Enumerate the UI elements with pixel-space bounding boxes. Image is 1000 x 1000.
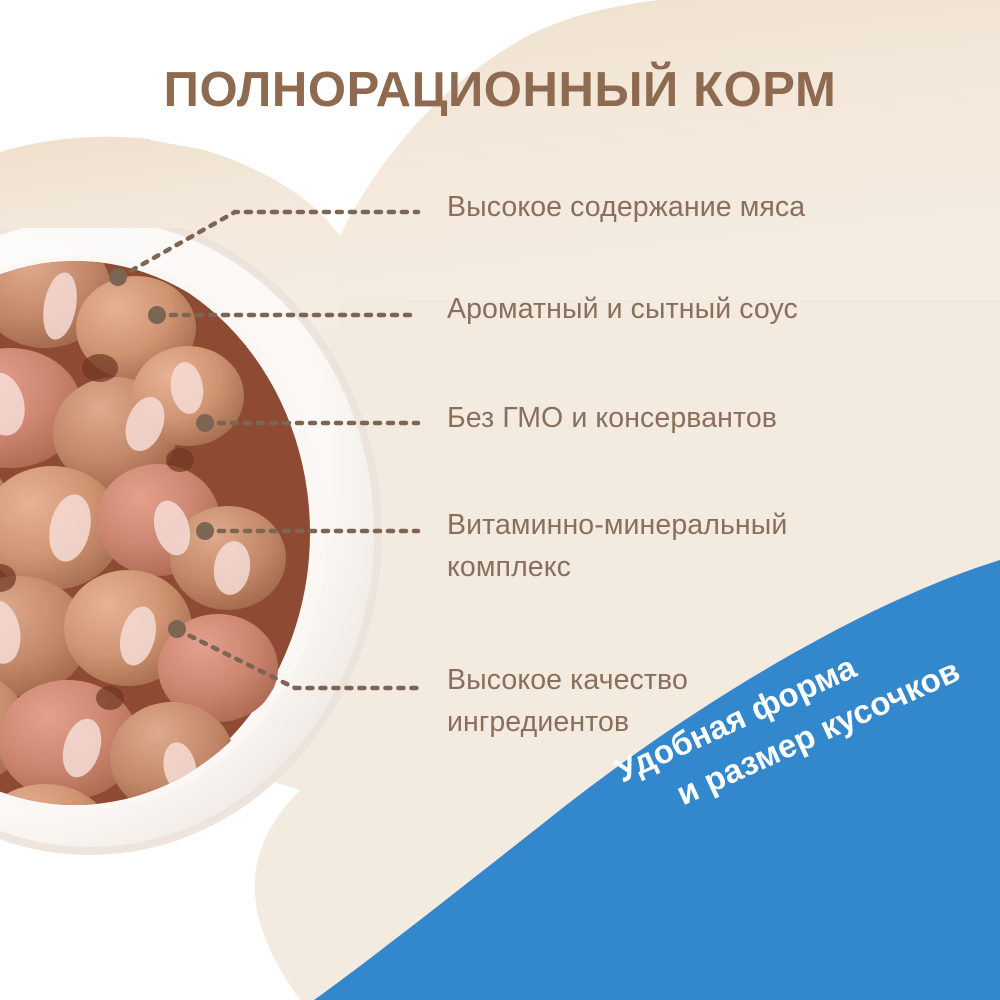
feature-item-3: Без ГМО и консервантов	[447, 397, 777, 439]
feature-item-1: Высокое содержание мяса	[447, 186, 805, 228]
page-title: ПОЛНОРАЦИОННЫЙ КОРМ	[0, 62, 1000, 118]
connector-dot-5	[168, 620, 186, 638]
connector-line-5	[178, 630, 418, 688]
connector-dot-4	[196, 522, 214, 540]
product-poster: ПОЛНОРАЦИОННЫЙ КОРМ Высокое содержание м…	[0, 0, 1000, 1000]
feature-item-4: Витаминно-минеральный комплекс	[447, 504, 917, 588]
connector-dot-2	[148, 306, 166, 324]
connector-dot-1	[109, 268, 127, 286]
connector-lines	[0, 0, 1000, 1000]
connector-line-1	[120, 212, 418, 277]
connector-dot-3	[196, 414, 214, 432]
feature-item-2: Ароматный и сытный соус	[447, 288, 798, 330]
